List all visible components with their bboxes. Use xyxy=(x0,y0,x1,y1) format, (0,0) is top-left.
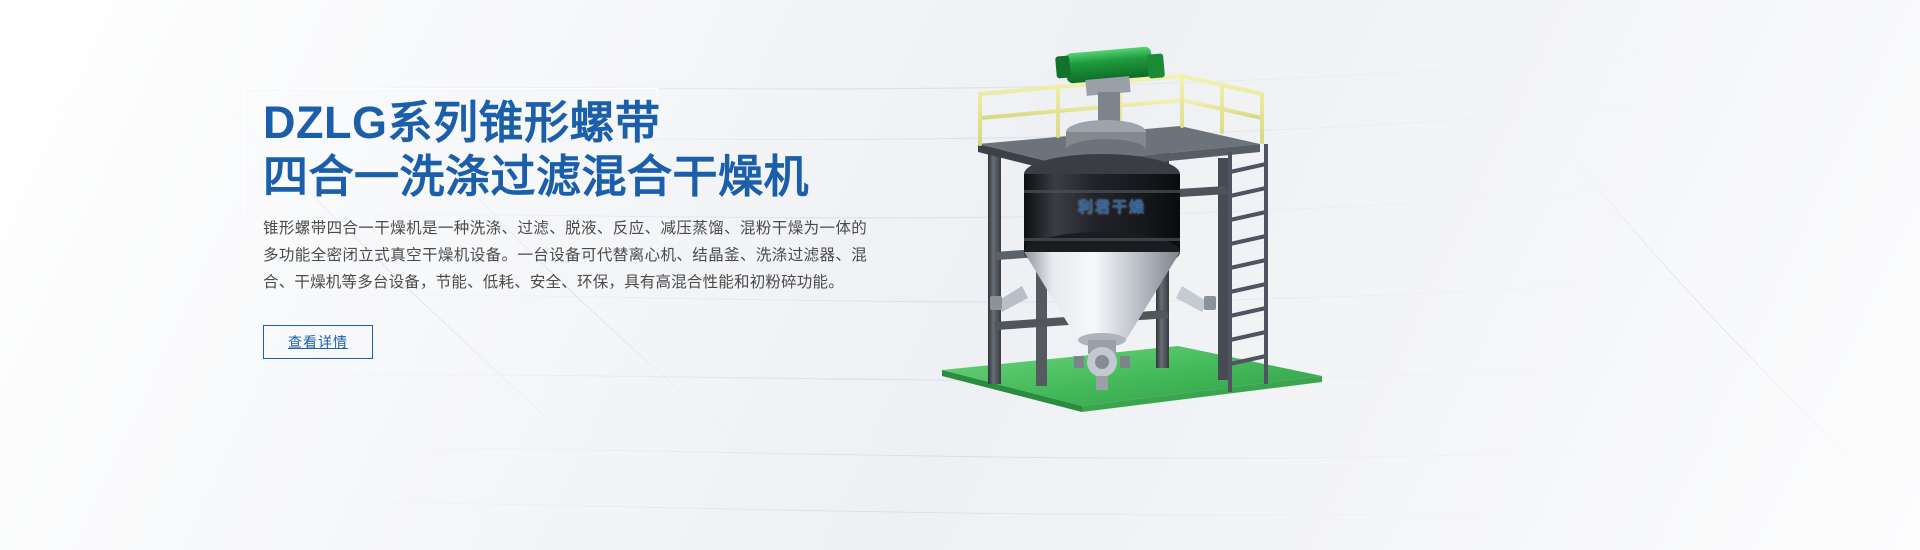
access-ladder xyxy=(1230,144,1266,392)
headline-line-1: DZLG系列锥形螺带 xyxy=(263,96,893,150)
view-details-button[interactable]: 查看详情 xyxy=(263,325,373,359)
image-watermark: 利君干燥 xyxy=(1078,196,1146,217)
product-description: 锥形螺带四合一干燥机是一种洗涤、过滤、脱液、反应、减压蒸馏、混粉干燥为一体的多功… xyxy=(263,215,867,296)
decor-frame-left xyxy=(243,88,244,216)
conical-section xyxy=(990,252,1216,347)
decor-frame-top xyxy=(243,88,658,89)
hero-content: DZLG系列锥形螺带 四合一洗涤过滤混合干燥机 锥形螺带四合一干燥机是一种洗涤、… xyxy=(255,72,895,372)
page-title: DZLG系列锥形螺带 四合一洗涤过滤混合干燥机 xyxy=(263,96,893,204)
hero-banner: DZLG系列锥形螺带 四合一洗涤过滤混合干燥机 锥形螺带四合一干燥机是一种洗涤、… xyxy=(0,0,1920,550)
product-illustration xyxy=(930,40,1350,440)
headline-line-2: 四合一洗涤过滤混合干燥机 xyxy=(263,150,893,204)
